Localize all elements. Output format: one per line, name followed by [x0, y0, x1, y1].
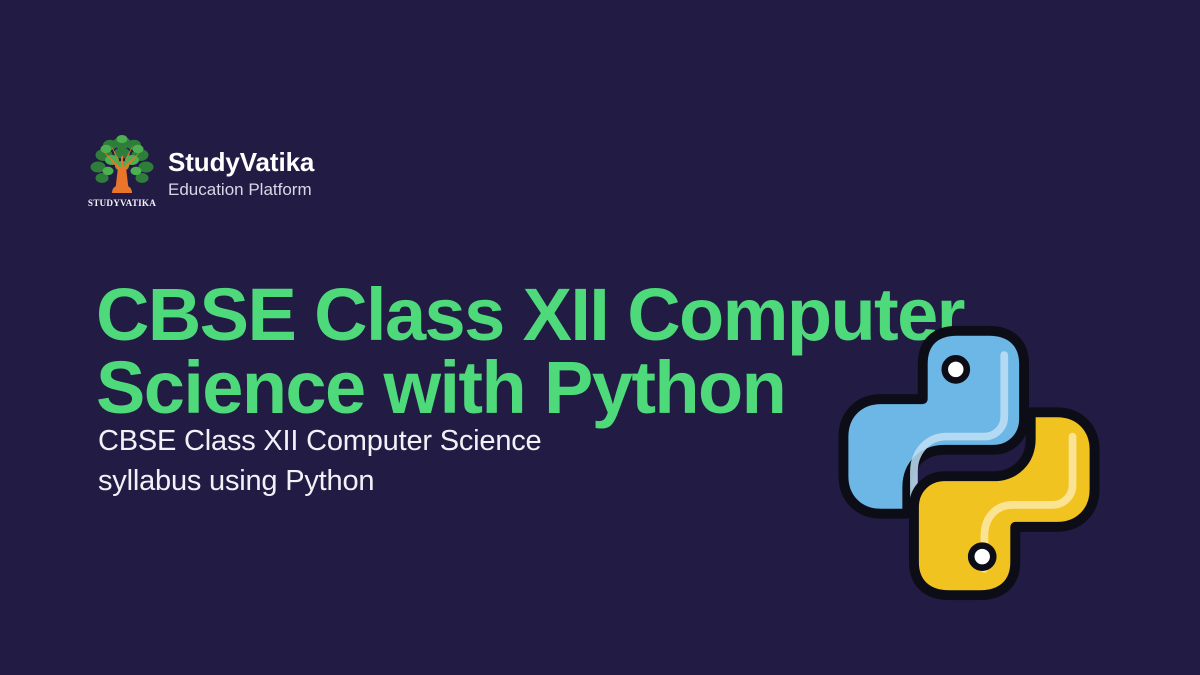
hero-banner: STUDYVATIKA StudyVatika Education Platfo… [0, 0, 1200, 675]
brand-lockup[interactable]: STUDYVATIKA StudyVatika Education Platfo… [88, 133, 314, 213]
brand-tagline: Education Platform [168, 179, 314, 202]
tree-logo-icon: STUDYVATIKA [88, 133, 156, 213]
page-subtitle: CBSE Class XII Computer Science syllabus… [98, 422, 798, 501]
brand-name: StudyVatika [168, 148, 314, 177]
python-yellow-eye [971, 546, 993, 568]
python-blue-eye [945, 358, 967, 380]
brand-text-block: StudyVatika Education Platform [168, 144, 314, 203]
python-logo-icon [828, 322, 1110, 604]
tree-logo-caption: STUDYVATIKA [88, 198, 156, 208]
